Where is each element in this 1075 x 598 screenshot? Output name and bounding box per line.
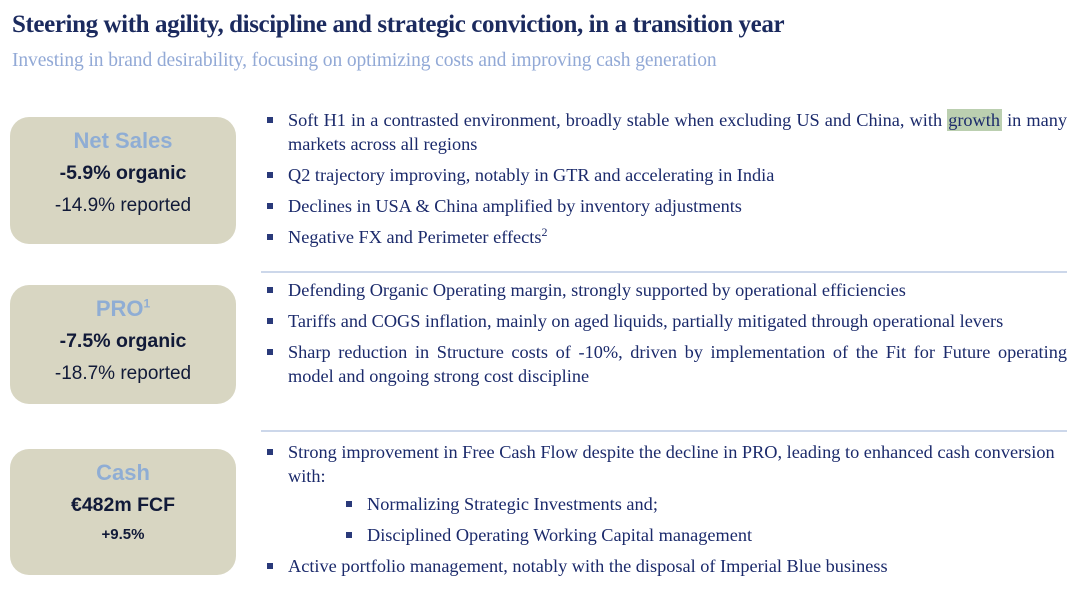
section-divider — [261, 271, 1067, 273]
bullet-item: Strong improvement in Free Cash Flow des… — [261, 440, 1067, 547]
bullet-block-pro: Defending Organic Operating margin, stro… — [261, 278, 1067, 388]
square-bullet-icon — [267, 318, 273, 324]
kpi-primary-value: -7.5% organic — [16, 324, 230, 358]
bullet-item: Active portfolio management, notably wit… — [261, 554, 1067, 578]
square-bullet-icon — [267, 172, 273, 178]
square-bullet-icon — [267, 563, 273, 569]
square-bullet-icon — [267, 203, 273, 209]
highlighted-text: growth — [947, 109, 1002, 131]
sub-bullet-list: Normalizing Strategic Investments and;Di… — [288, 492, 1067, 547]
square-bullet-icon — [346, 532, 352, 538]
kpi-primary-value: €482m FCF — [16, 488, 230, 522]
slide-content: Net Sales-5.9% organic-14.9% reportedSof… — [0, 108, 1075, 598]
bullet-block-cash: Strong improvement in Free Cash Flow des… — [261, 440, 1067, 578]
kpi-card-title: Cash — [16, 458, 230, 488]
kpi-card-net-sales: Net Sales-5.9% organic-14.9% reported — [10, 117, 236, 244]
footnote-marker: 2 — [541, 225, 547, 239]
bullet-list: Defending Organic Operating margin, stro… — [261, 278, 1067, 388]
bullet-item: Sharp reduction in Structure costs of -1… — [261, 340, 1067, 388]
kpi-secondary-value: +9.5% — [16, 522, 230, 548]
bullet-item: Tariffs and COGS inflation, mainly on ag… — [261, 309, 1067, 333]
bullet-item: Soft H1 in a contrasted environment, bro… — [261, 108, 1067, 156]
kpi-card-title: Net Sales — [16, 126, 230, 156]
slide-header: Steering with agility, discipline and st… — [12, 10, 1063, 74]
bullet-item: Q2 trajectory improving, notably in GTR … — [261, 163, 1067, 187]
section-pro: PRO1-7.5% organic-18.7% reportedDefendin… — [0, 278, 1075, 438]
kpi-card-cash: Cash€482m FCF+9.5% — [10, 449, 236, 575]
kpi-primary-value: -5.9% organic — [16, 156, 230, 190]
section-net-sales: Net Sales-5.9% organic-14.9% reportedSof… — [0, 108, 1075, 268]
square-bullet-icon — [267, 349, 273, 355]
kpi-card-title: PRO1 — [16, 294, 230, 324]
bullet-list: Soft H1 in a contrasted environment, bro… — [261, 108, 1067, 249]
kpi-secondary-value: -18.7% reported — [16, 358, 230, 390]
page-subtitle: Investing in brand desirability, focusin… — [12, 48, 1063, 74]
bullet-item: Negative FX and Perimeter effects2 — [261, 225, 1067, 249]
square-bullet-icon — [346, 501, 352, 507]
kpi-card-pro: PRO1-7.5% organic-18.7% reported — [10, 285, 236, 404]
sub-bullet-item: Normalizing Strategic Investments and; — [340, 492, 1067, 516]
square-bullet-icon — [267, 234, 273, 240]
bullet-item: Defending Organic Operating margin, stro… — [261, 278, 1067, 302]
square-bullet-icon — [267, 117, 273, 123]
square-bullet-icon — [267, 287, 273, 293]
kpi-title-footnote-marker: 1 — [144, 297, 151, 311]
page-title: Steering with agility, discipline and st… — [12, 10, 1063, 40]
bullet-block-net-sales: Soft H1 in a contrasted environment, bro… — [261, 108, 1067, 249]
bullet-list: Strong improvement in Free Cash Flow des… — [261, 440, 1067, 578]
square-bullet-icon — [267, 449, 273, 455]
sub-bullet-item: Disciplined Operating Working Capital ma… — [340, 523, 1067, 547]
kpi-secondary-value: -14.9% reported — [16, 190, 230, 222]
section-cash: Cash€482m FCF+9.5%Strong improvement in … — [0, 440, 1075, 598]
bullet-item: Declines in USA & China amplified by inv… — [261, 194, 1067, 218]
